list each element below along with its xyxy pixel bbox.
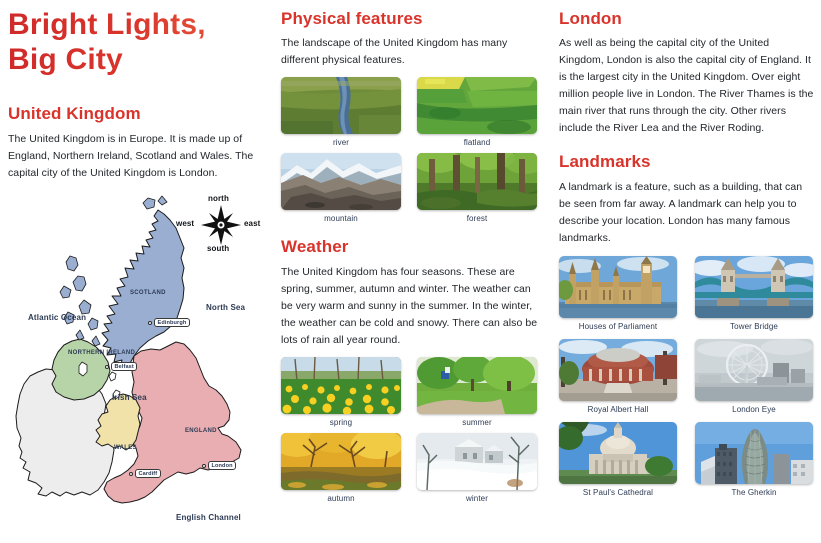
city-label-edinburgh: Edinburgh — [154, 318, 190, 327]
photo-houses-of-parliament — [559, 256, 677, 318]
image-cell-flatland: flatland — [417, 77, 537, 147]
compass-rose: north south west east — [180, 194, 262, 256]
city-dot-icon — [105, 365, 109, 369]
city-pin-london: London — [202, 461, 236, 470]
weather-heading: Weather — [281, 237, 543, 257]
poster-title: Bright Lights, Big City — [8, 0, 272, 78]
photo-st-pauls-cathedral — [559, 422, 677, 484]
photo-st-pauls-cathedral-graphic — [559, 422, 677, 484]
photo-summer-graphic — [417, 357, 537, 414]
poster-page: Bright Lights, Big City United Kingdom T… — [0, 0, 821, 543]
sea-label-north-sea: North Sea — [206, 303, 245, 312]
photo-royal-albert-hall-graphic — [559, 339, 677, 401]
image-cell-london-eye: London Eye — [695, 339, 813, 414]
landmarks-heading: Landmarks — [559, 152, 815, 172]
compass-label-east: east — [244, 219, 260, 228]
photo-flatland — [417, 77, 537, 134]
city-label-london: London — [208, 461, 236, 470]
weather-text: The United Kingdom has four seasons. The… — [281, 264, 543, 349]
photo-the-gherkin-graphic — [695, 422, 813, 484]
image-cell-mountain: mountain — [281, 153, 401, 223]
sea-label-irish-sea: Irish Sea — [112, 393, 147, 402]
city-dot-icon — [202, 464, 206, 468]
photo-autumn — [281, 433, 401, 490]
image-cell-summer: summer — [417, 357, 537, 427]
caption-tower-bridge: Tower Bridge — [695, 322, 813, 331]
united-kingdom-text: The United Kingdom is in Europe. It is m… — [8, 131, 272, 182]
photo-spring — [281, 357, 401, 414]
image-cell-st-pauls-cathedral: St Paul's Cathedral — [559, 422, 677, 497]
country-label-wales: WALES — [114, 445, 137, 451]
compass-label-south: south — [207, 244, 229, 253]
united-kingdom-heading: United Kingdom — [8, 104, 272, 124]
compass-label-north: north — [208, 194, 229, 203]
physical-features-text: The landscape of the United Kingdom has … — [281, 35, 543, 69]
caption-mountain: mountain — [281, 214, 401, 223]
sea-label-atlantic-ocean: Atlantic Ocean — [28, 313, 86, 322]
photo-london-eye — [695, 339, 813, 401]
photo-winter-graphic — [417, 433, 537, 490]
caption-st-pauls-cathedral: St Paul's Cathedral — [559, 488, 677, 497]
right-column: London As well as being the capital city… — [559, 0, 815, 543]
photo-forest-graphic — [417, 153, 537, 210]
photo-spring-graphic — [281, 357, 401, 414]
photo-summer — [417, 357, 537, 414]
photo-forest — [417, 153, 537, 210]
physical-features-heading: Physical features — [281, 9, 543, 29]
photo-river-graphic — [281, 77, 401, 134]
caption-houses-of-parliament: Houses of Parliament — [559, 322, 677, 331]
city-label-cardiff: Cardiff — [135, 469, 161, 478]
photo-royal-albert-hall — [559, 339, 677, 401]
photo-london-eye-graphic — [695, 339, 813, 401]
caption-the-gherkin: The Gherkin — [695, 488, 813, 497]
city-pin-belfast: Belfast — [105, 362, 137, 371]
caption-royal-albert-hall: Royal Albert Hall — [559, 405, 677, 414]
uk-map: north south west east Atlantic Ocean Nor… — [8, 190, 272, 542]
photo-flatland-graphic — [417, 77, 537, 134]
caption-spring: spring — [281, 418, 401, 427]
photo-river — [281, 77, 401, 134]
caption-winter: winter — [417, 494, 537, 503]
photo-winter — [417, 433, 537, 490]
image-cell-tower-bridge: Tower Bridge — [695, 256, 813, 331]
caption-river: river — [281, 138, 401, 147]
compass-label-west: west — [176, 219, 194, 228]
image-cell-royal-albert-hall: Royal Albert Hall — [559, 339, 677, 414]
caption-flatland: flatland — [417, 138, 537, 147]
city-pin-edinburgh: Edinburgh — [148, 318, 190, 327]
poster-title-line-1: Bright Lights, — [8, 7, 272, 42]
poster-title-line-2: Big City — [8, 42, 272, 77]
sea-label-english-channel: English Channel — [176, 513, 241, 522]
image-cell-houses-of-parliament: Houses of Parliament — [559, 256, 677, 331]
photo-mountain — [281, 153, 401, 210]
middle-column: Physical features The landscape of the U… — [281, 0, 543, 543]
country-label-northern-ireland: NORTHERN IRELAND — [68, 350, 114, 356]
city-dot-icon — [148, 321, 152, 325]
image-cell-autumn: autumn — [281, 433, 401, 503]
photo-houses-of-parliament-graphic — [559, 256, 677, 318]
image-cell-spring: spring — [281, 357, 401, 427]
london-text: As well as being the capital city of the… — [559, 35, 815, 137]
image-cell-the-gherkin: The Gherkin — [695, 422, 813, 497]
photo-the-gherkin — [695, 422, 813, 484]
left-column: Bright Lights, Big City United Kingdom T… — [8, 0, 272, 543]
country-label-england: ENGLAND — [185, 428, 217, 434]
image-cell-winter: winter — [417, 433, 537, 503]
photo-tower-bridge — [695, 256, 813, 318]
caption-autumn: autumn — [281, 494, 401, 503]
photo-autumn-graphic — [281, 433, 401, 490]
city-pin-cardiff: Cardiff — [129, 469, 161, 478]
landmarks-image-grid: Houses of Parliament — [559, 256, 815, 497]
city-dot-icon — [129, 472, 133, 476]
country-label-scotland: SCOTLAND — [130, 290, 166, 296]
caption-london-eye: London Eye — [695, 405, 813, 414]
image-cell-forest: forest — [417, 153, 537, 223]
city-label-belfast: Belfast — [111, 362, 137, 371]
caption-forest: forest — [417, 214, 537, 223]
weather-image-grid: spring — [281, 357, 543, 503]
caption-summer: summer — [417, 418, 537, 427]
photo-tower-bridge-graphic — [695, 256, 813, 318]
landmarks-text: A landmark is a feature, such as a build… — [559, 179, 815, 247]
image-cell-river: river — [281, 77, 401, 147]
london-heading: London — [559, 9, 815, 29]
physical-features-image-grid: river f — [281, 77, 543, 223]
photo-mountain-graphic — [281, 153, 401, 210]
